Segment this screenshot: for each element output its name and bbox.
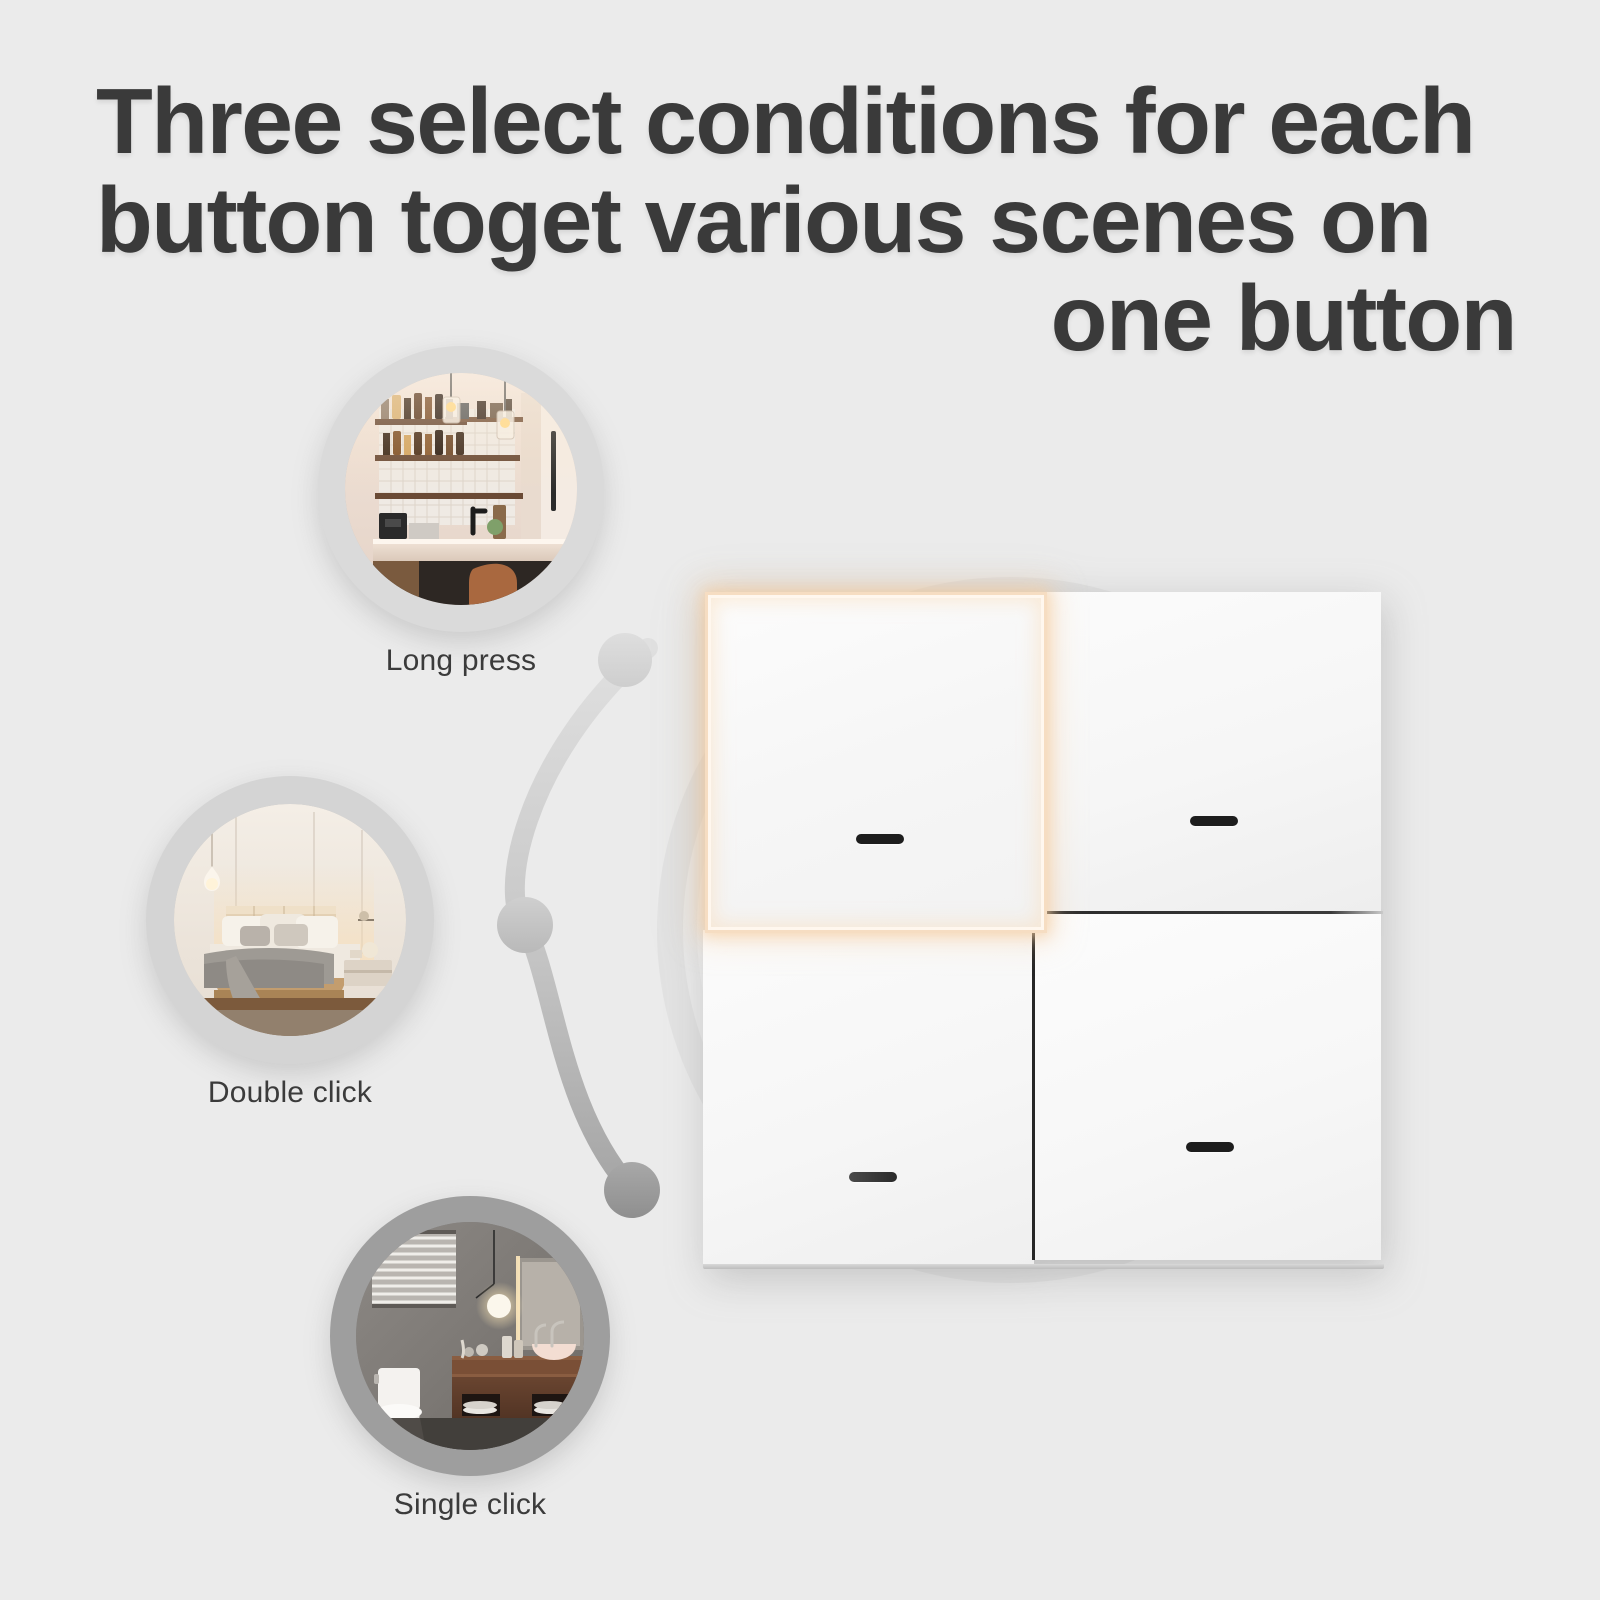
connector-arc: [515, 648, 648, 1190]
button-indicator-dash: [856, 834, 904, 844]
scene-bubble-double-click[interactable]: Double click: [146, 776, 434, 1064]
scene-caption-double-click: Double click: [146, 1076, 434, 1110]
scene-bubble-single-click[interactable]: Single click: [330, 1196, 610, 1476]
switch-button-top-left-active[interactable]: [708, 595, 1044, 930]
panel-seam-horizontal: [1034, 911, 1383, 914]
switch-button-top-right[interactable]: [1044, 592, 1381, 912]
scene-photo-home-bar: [345, 373, 577, 605]
headline-line-3: one button: [96, 269, 1516, 368]
headline-line-1: Three select conditions for each: [96, 72, 1516, 171]
button-indicator-dash: [1190, 816, 1238, 826]
dot-double-click: [497, 897, 553, 953]
panel-seam-vertical: [1032, 914, 1035, 1260]
scene-caption-long-press: Long press: [318, 644, 604, 678]
dot-single-click: [604, 1162, 660, 1218]
smart-switch-panel: [703, 592, 1381, 1268]
scene-photo-bedroom: [174, 804, 406, 1036]
feature-graphic-canvas: Three select conditions for each button …: [0, 0, 1600, 1600]
switch-button-bottom-right[interactable]: [1034, 912, 1381, 1260]
scene-caption-single-click: Single click: [330, 1488, 610, 1522]
headline-line-2: button toget various scenes on: [96, 171, 1516, 270]
button-indicator-dash: [1186, 1142, 1234, 1152]
scene-bubble-long-press[interactable]: Long press: [318, 346, 604, 632]
panel-bottom-edge: [703, 1264, 1384, 1269]
scene-photo-bathroom: [356, 1222, 584, 1450]
button-indicator-dash: [849, 1172, 897, 1182]
page-title: Three select conditions for each button …: [96, 72, 1516, 368]
switch-button-bottom-left[interactable]: [703, 930, 1034, 1268]
dot-long-press: [598, 633, 652, 687]
